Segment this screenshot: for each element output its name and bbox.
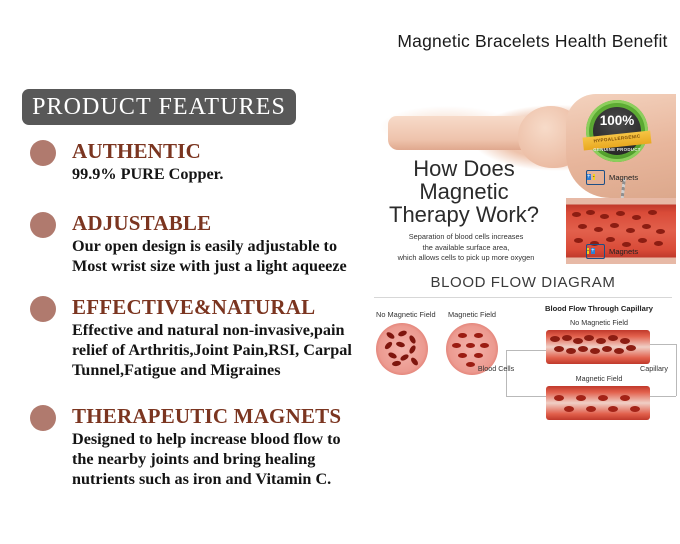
description-line: which allows cells to pick up more oxyge… — [376, 253, 556, 264]
feature-heading: AUTHENTIC — [72, 140, 360, 163]
seal-sub-label: GENUINE PRODUCT — [586, 147, 648, 152]
feature-line: the nearby joints and bring healing — [72, 449, 360, 469]
feature-item-authentic: AUTHENTIC 99.9% PURE Copper. — [30, 140, 360, 184]
feature-line: Our open design is easily adjustable to — [72, 236, 360, 256]
tube-label-top: No Magnetic Field — [522, 318, 676, 327]
feature-line: nutrients such as iron and Vitamin C. — [72, 469, 360, 489]
feature-line: 99.9% PURE Copper. — [72, 164, 360, 184]
magnet-icon: + - — [586, 170, 605, 185]
leader-label-blood-cells: Blood Cells — [466, 364, 526, 373]
cross-section-label: Magnetic Field — [446, 310, 498, 319]
magnetic-therapy-scene: How Does Magnetic Therapy Work? Separati… — [370, 82, 676, 264]
bullet-icon — [30, 140, 56, 166]
quality-seal-badge: 100% HYPOALLERGENIC GENUINE PRODUCT — [586, 100, 648, 162]
pole-positive: + — [591, 248, 595, 254]
bullet-icon — [30, 296, 56, 322]
product-features-banner: PRODUCT FEATURES — [22, 89, 296, 125]
magnet-icon: - + — [586, 244, 605, 259]
description-line: the available surface area, — [376, 243, 556, 254]
feature-line: Tunnel,Fatigue and Migraines — [72, 360, 360, 380]
leader-line-left-top — [506, 350, 546, 351]
feature-heading: EFFECTIVE&NATURAL — [72, 296, 360, 319]
feature-heading: ADJUSTABLE — [72, 212, 360, 235]
capillary-title: Blood Flow Through Capillary — [522, 304, 676, 313]
infographic-page: Magnetic Bracelets Health Benefit PRODUC… — [0, 0, 680, 544]
therapy-headline: How Does Magnetic Therapy Work? — [378, 158, 550, 227]
feature-line: relief of Arthritis,Joint Pain,RSI, Carp… — [72, 340, 360, 360]
magnet-label-top: + - Magnets — [586, 170, 638, 185]
cross-section-no-field: No Magnetic Field — [376, 310, 436, 375]
feature-body: 99.9% PURE Copper. — [72, 164, 360, 184]
feature-item-adjustable: ADJUSTABLE Our open design is easily adj… — [30, 212, 360, 276]
blood-flow-diagram-title: BLOOD FLOW DIAGRAM — [370, 274, 676, 291]
feature-line: Effective and natural non-invasive,pain — [72, 320, 360, 340]
feature-heading: THERAPEUTIC MAGNETS — [72, 405, 360, 428]
feature-item-therapeutic-magnets: THERAPEUTIC MAGNETS Designed to help inc… — [30, 405, 360, 490]
pole-negative: - — [587, 248, 589, 254]
page-title: Magnetic Bracelets Health Benefit — [390, 31, 675, 52]
feature-line: Most wrist size with just a light aqueez… — [72, 256, 360, 276]
product-features-label: PRODUCT FEATURES — [32, 94, 286, 121]
pole-positive: + — [587, 174, 591, 180]
magnet-label-bottom: - + Magnets — [586, 244, 638, 259]
seal-percent-label: 100% — [586, 113, 648, 128]
bullet-icon — [30, 212, 56, 238]
blood-cross-section-clumped — [376, 323, 428, 375]
headline-line: Magnetic — [378, 181, 550, 204]
description-line: Separation of blood cells increases — [376, 232, 556, 243]
leader-line-right-top — [650, 344, 676, 345]
feature-line: Designed to help increase blood flow to — [72, 429, 360, 449]
headline-line: How Does — [378, 158, 550, 181]
section-divider — [374, 297, 672, 298]
therapy-description: Separation of blood cells increases the … — [376, 232, 556, 264]
leader-line-right-bottom — [650, 396, 676, 397]
right-panel: How Does Magnetic Therapy Work? Separati… — [370, 82, 676, 487]
pole-negative: - — [593, 174, 595, 180]
capillary-tube-no-field — [546, 330, 650, 364]
leader-line-left-bottom — [506, 396, 546, 397]
feature-item-effective-natural: EFFECTIVE&NATURAL Effective and natural … — [30, 296, 360, 381]
cross-section-label: No Magnetic Field — [376, 310, 436, 319]
feature-body: Designed to help increase blood flow to … — [72, 429, 360, 490]
feature-body: Our open design is easily adjustable to … — [72, 236, 360, 277]
leader-line-left — [506, 350, 547, 396]
magnet-label-text: Magnets — [609, 173, 638, 182]
capillary-tube-with-field — [546, 386, 650, 420]
magnet-label-text: Magnets — [609, 247, 638, 256]
leader-label-capillary: Capillary — [628, 364, 680, 373]
headline-line: Therapy Work? — [378, 204, 550, 227]
feature-body: Effective and natural non-invasive,pain … — [72, 320, 360, 381]
bullet-icon — [30, 405, 56, 431]
